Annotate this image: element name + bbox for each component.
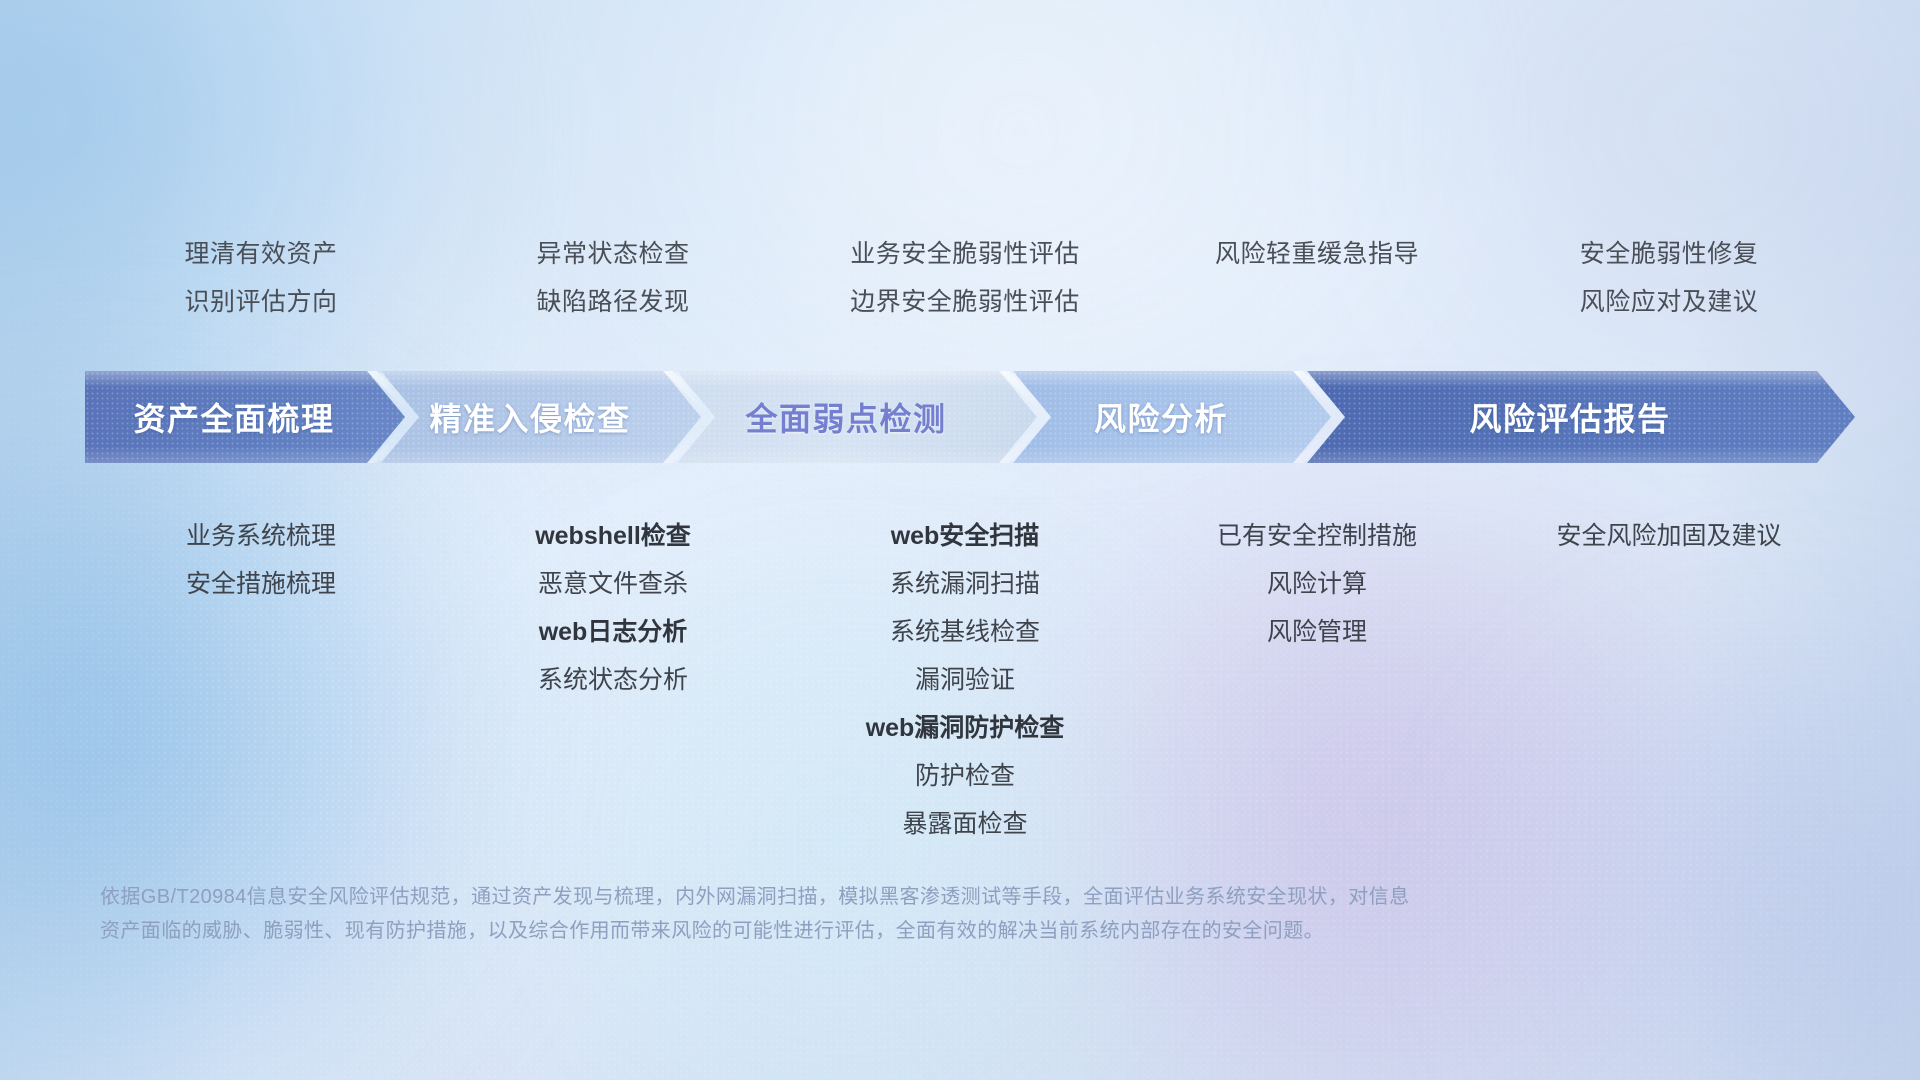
process-stage-chevron-2[interactable]: 精准入侵检查 bbox=[381, 371, 701, 463]
stage-detail-lists-row: 业务系统梳理 安全措施梳理 webshell检查 恶意文件查杀 web日志分析 … bbox=[85, 500, 1845, 848]
top-caption-group-2: 异常状态检查 缺陷路径发现 bbox=[437, 230, 789, 326]
top-caption: 业务安全脆弱性评估 bbox=[789, 230, 1141, 278]
list-item: 风险计算 bbox=[1141, 560, 1493, 608]
footer-description: 依据GB/T20984信息安全风险评估规范，通过资产发现与梳理，内外网漏洞扫描，… bbox=[100, 880, 1820, 948]
stage-detail-list-3: web安全扫描 系统漏洞扫描 系统基线检查 漏洞验证 web漏洞防护检查 防护检… bbox=[789, 500, 1141, 848]
top-caption: 边界安全脆弱性评估 bbox=[789, 278, 1141, 326]
process-stage-chevron-3[interactable]: 全面弱点检测 bbox=[677, 371, 1037, 463]
list-item: web安全扫描 bbox=[789, 512, 1141, 560]
list-item: 系统状态分析 bbox=[437, 656, 789, 704]
top-caption-group-4: 风险轻重缓急指导 bbox=[1141, 230, 1493, 326]
footer-line-1: 依据GB/T20984信息安全风险评估规范，通过资产发现与梳理，内外网漏洞扫描，… bbox=[100, 880, 1820, 914]
list-item: 风险管理 bbox=[1141, 608, 1493, 656]
list-item: 系统基线检查 bbox=[789, 608, 1141, 656]
top-caption: 识别评估方向 bbox=[85, 278, 437, 326]
top-caption-group-5: 安全脆弱性修复 风险应对及建议 bbox=[1493, 230, 1845, 326]
stage-title: 全面弱点检测 bbox=[677, 394, 1037, 440]
list-item: 暴露面检查 bbox=[789, 800, 1141, 848]
top-caption: 风险轻重缓急指导 bbox=[1141, 230, 1493, 278]
process-stage-chevron-1[interactable]: 资产全面梳理 bbox=[85, 371, 405, 463]
stage-detail-list-2: webshell检查 恶意文件查杀 web日志分析 系统状态分析 bbox=[437, 500, 789, 704]
top-caption-group-3: 业务安全脆弱性评估 边界安全脆弱性评估 bbox=[789, 230, 1141, 326]
list-item: 业务系统梳理 bbox=[85, 512, 437, 560]
stage-title: 精准入侵检查 bbox=[381, 394, 701, 440]
top-captions-row: 理清有效资产 识别评估方向 异常状态检查 缺陷路径发现 业务安全脆弱性评估 边界… bbox=[85, 230, 1845, 326]
list-item: 安全风险加固及建议 bbox=[1493, 512, 1845, 560]
process-stage-chevron-4[interactable]: 风险分析 bbox=[1013, 371, 1331, 463]
list-item: web日志分析 bbox=[437, 608, 789, 656]
list-item: 系统漏洞扫描 bbox=[789, 560, 1141, 608]
footer-line-2: 资产面临的威胁、脆弱性、现有防护措施，以及综合作用而带来风险的可能性进行评估，全… bbox=[100, 914, 1820, 948]
top-caption: 缺陷路径发现 bbox=[437, 278, 789, 326]
stage-title: 风险分析 bbox=[1013, 394, 1331, 440]
process-stage-chevron-5[interactable]: 风险评估报告 bbox=[1307, 371, 1855, 463]
top-caption: 理清有效资产 bbox=[85, 230, 437, 278]
list-item: 安全措施梳理 bbox=[85, 560, 437, 608]
stage-title: 风险评估报告 bbox=[1307, 394, 1855, 440]
top-caption: 安全脆弱性修复 bbox=[1493, 230, 1845, 278]
stage-detail-list-4: 已有安全控制措施 风险计算 风险管理 bbox=[1141, 500, 1493, 656]
stage-detail-list-1: 业务系统梳理 安全措施梳理 bbox=[85, 500, 437, 608]
list-item: 漏洞验证 bbox=[789, 656, 1141, 704]
list-item: 恶意文件查杀 bbox=[437, 560, 789, 608]
list-item: 已有安全控制措施 bbox=[1141, 512, 1493, 560]
list-item: 防护检查 bbox=[789, 752, 1141, 800]
top-caption-group-1: 理清有效资产 识别评估方向 bbox=[85, 230, 437, 326]
stage-detail-list-5: 安全风险加固及建议 bbox=[1493, 500, 1845, 560]
top-caption: 风险应对及建议 bbox=[1493, 278, 1845, 326]
risk-assessment-process-diagram: 理清有效资产 识别评估方向 异常状态检查 缺陷路径发现 业务安全脆弱性评估 边界… bbox=[0, 0, 1920, 1080]
list-item: webshell检查 bbox=[437, 512, 789, 560]
stage-title: 资产全面梳理 bbox=[85, 394, 405, 440]
top-caption: 异常状态检查 bbox=[437, 230, 789, 278]
list-item: web漏洞防护检查 bbox=[789, 704, 1141, 752]
process-chevron-band: 资产全面梳理 精准入侵检查 全面弱点检测 风险分析 风险评估报告 bbox=[85, 371, 1855, 463]
